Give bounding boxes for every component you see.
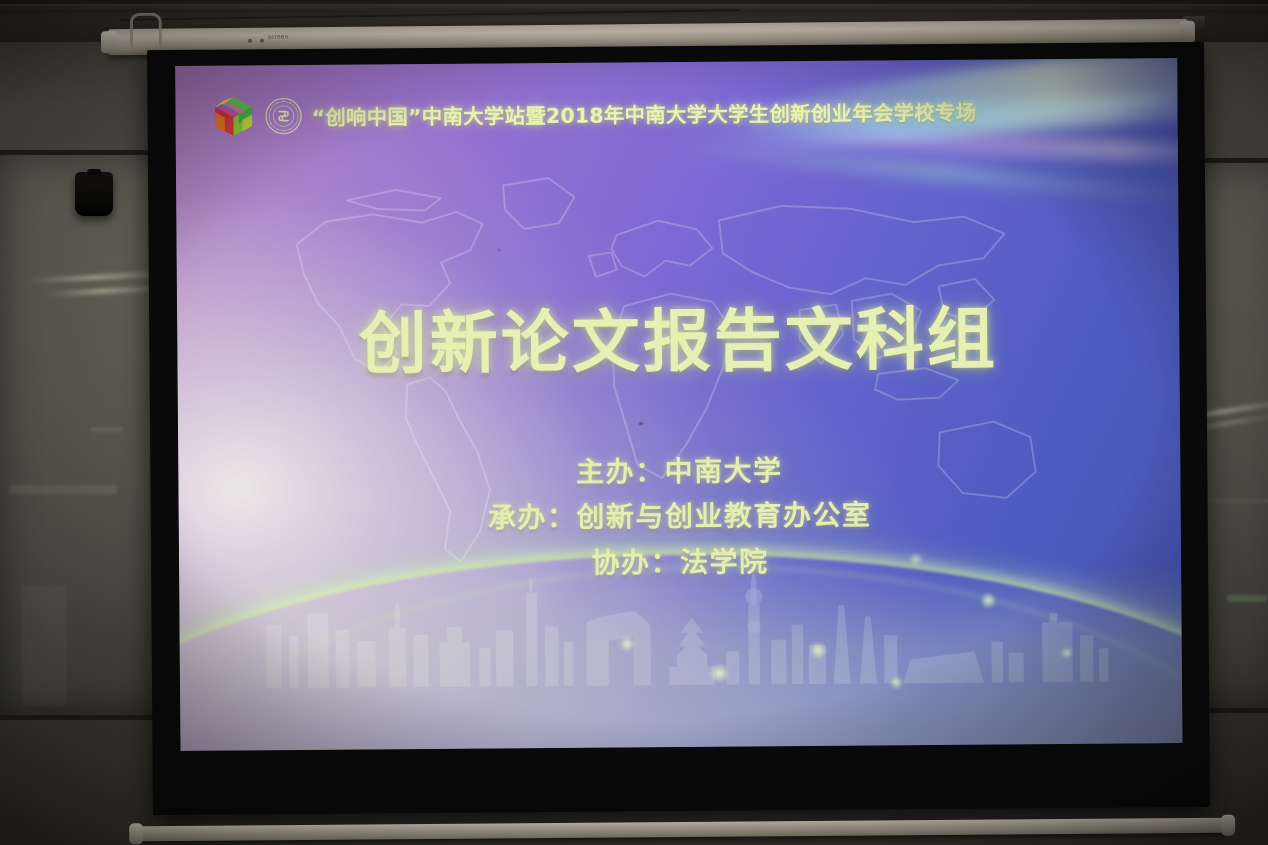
- slide-header-title: “创响中国”中南大学站暨2018年中南大学大学生创新创业年会学校专场: [311, 95, 976, 130]
- roller-cap-left: [101, 31, 117, 53]
- roller-screw: [260, 39, 264, 43]
- bokeh-dot: [711, 664, 728, 681]
- whiteboard-marking: [9, 485, 117, 494]
- organizer-line-host: 主办：中南大学: [178, 445, 1180, 498]
- weight-bar-cap-left: [129, 823, 143, 844]
- classroom-photo-scene: screen: [0, 0, 1268, 845]
- roller-mount-bracket: [130, 13, 162, 46]
- roller-screw: [248, 39, 252, 43]
- whiteboard-marking: [21, 585, 67, 705]
- bokeh-dot: [981, 594, 995, 608]
- screen-dust-speck: [639, 422, 643, 425]
- screen-dust-speck: [497, 248, 500, 251]
- presentation-slide: “创响中国”中南大学站暨2018年中南大学大学生创新创业年会学校专场 创新论文报…: [175, 58, 1182, 751]
- projector-screen-frame: “创响中国”中南大学站暨2018年中南大学大学生创新创业年会学校专场 创新论文报…: [147, 42, 1210, 815]
- roller-brand-label: screen: [268, 34, 288, 40]
- slide-organizers: 主办：中南大学 承办：创新与创业教育办公室 协办：法学院: [178, 445, 1181, 589]
- projector-screen-surface: “创响中国”中南大学站暨2018年中南大学大学生创新创业年会学校专场 创新论文报…: [175, 58, 1182, 751]
- speaker-notch: [87, 169, 101, 175]
- wall-speaker: [75, 172, 113, 216]
- ceiling-wire: [120, 0, 740, 21]
- organizer-line-cohost: 协办：法学院: [179, 536, 1181, 589]
- weight-bar-cap-right: [1221, 815, 1235, 836]
- bokeh-dot: [1061, 648, 1071, 658]
- slide-header: “创响中国”中南大学站暨2018年中南大学大学生创新创业年会学校专场: [211, 88, 976, 138]
- rainbow-cube-icon: [211, 94, 255, 138]
- roller-cap-right: [1179, 21, 1195, 43]
- organizer-line-organizer: 承办：创新与创业教育办公室: [179, 490, 1181, 543]
- slide-main-title: 创新论文报告文科组: [177, 305, 1180, 381]
- university-seal-icon: [264, 97, 302, 135]
- whiteboard-marker-pen: [1227, 595, 1267, 602]
- whiteboard-marking: [91, 427, 123, 432]
- bokeh-dot: [891, 677, 902, 688]
